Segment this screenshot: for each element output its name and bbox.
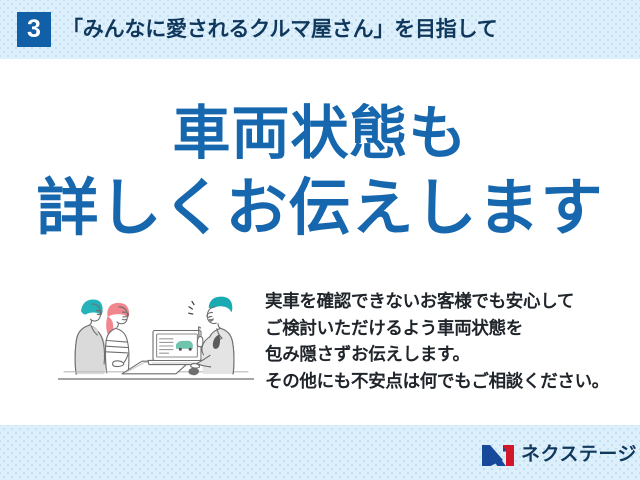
consultation-illustration-svg xyxy=(58,278,254,394)
headline-line-1: 車両状態も xyxy=(0,98,640,170)
step-number-badge: 3 xyxy=(17,12,51,47)
nextage-n-logo-icon xyxy=(481,443,515,467)
body-copy-line-2: ご検討いただけるよう車両状態を xyxy=(265,315,615,342)
laptop xyxy=(148,331,207,365)
body-copy-line-3: 包み隠さずお伝えします。 xyxy=(265,341,615,368)
promo-banner: 3 「みんなに愛されるクルマ屋さん」を目指して 車両状態も 詳しくお伝えします … xyxy=(0,0,640,480)
body-copy-line-4: その他にも不安点は何でもご相談ください。 xyxy=(265,368,615,395)
consultation-illustration xyxy=(58,278,254,394)
header-title: 「みんなに愛されるクルマ屋さん」を目指して xyxy=(62,13,498,47)
brand-name: ネクステージ xyxy=(521,443,637,467)
speech-emphasis-marks xyxy=(189,301,194,314)
computer-mouse xyxy=(188,368,199,376)
laptop-screen-car xyxy=(176,341,193,349)
body-copy: 実車を確認できないお客様でも安心して ご検討いただけるよう車両状態を 包み隠さず… xyxy=(265,288,615,394)
body-copy-line-1: 実車を確認できないお客様でも安心して xyxy=(265,288,615,315)
headline-line-2: 詳しくお伝えします xyxy=(0,170,640,248)
customer-female-figure xyxy=(105,303,130,374)
page-title: 車両状態も 詳しくお伝えします xyxy=(0,98,640,248)
brand-logo: ネクステージ xyxy=(481,441,637,469)
staff-member-hair xyxy=(209,297,233,313)
